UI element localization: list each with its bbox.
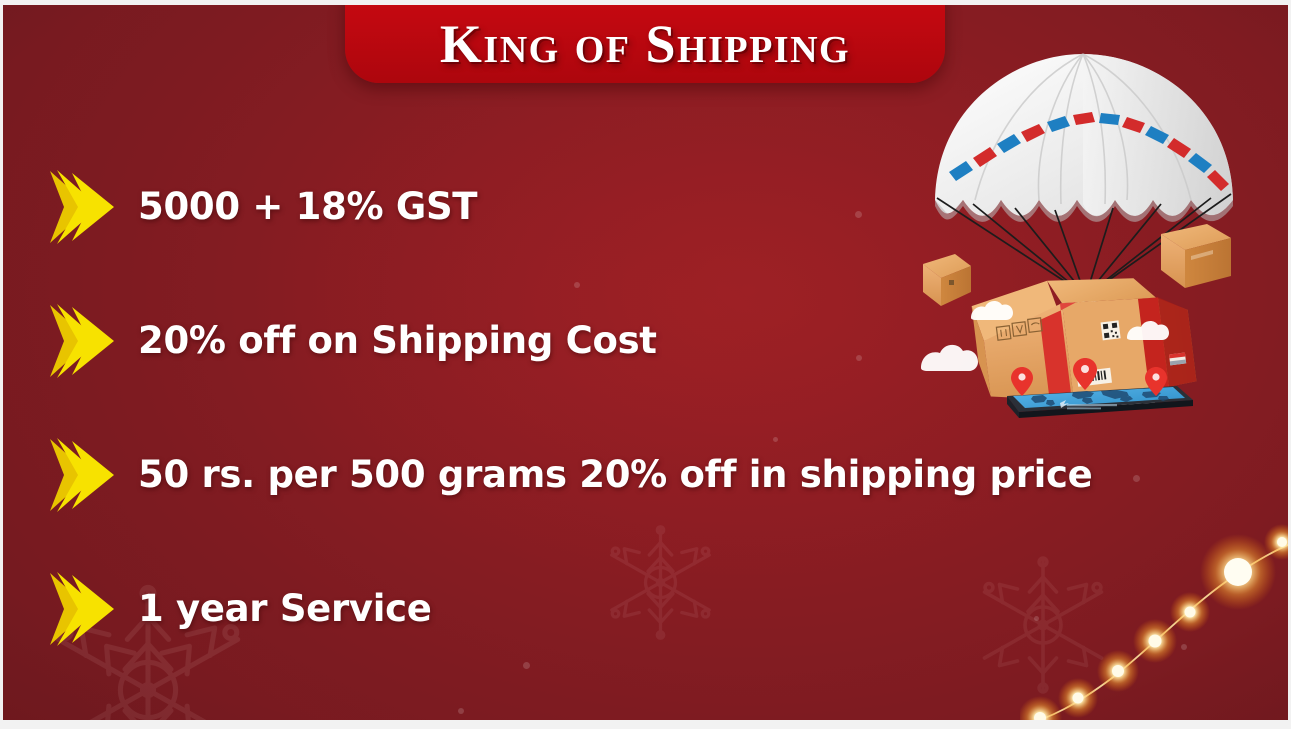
list-item: 20% off on Shipping Cost bbox=[44, 274, 1224, 408]
list-item: 5000 + 18% GST bbox=[44, 140, 1224, 274]
double-chevron-arrow-icon bbox=[44, 569, 122, 649]
feature-text: 5000 + 18% GST bbox=[138, 188, 477, 227]
feature-list: 5000 + 18% GST 20% off on Shipping Cost bbox=[44, 140, 1224, 676]
list-item: 1 year Service bbox=[44, 542, 1224, 676]
double-chevron-arrow-icon bbox=[44, 301, 122, 381]
frame-edge-bottom bbox=[0, 720, 1291, 729]
title-ribbon: King of Shipping bbox=[345, 0, 945, 83]
promo-banner: King of Shipping 5000 + 18% GST bbox=[0, 0, 1291, 729]
page-title: King of Shipping bbox=[440, 17, 850, 83]
bokeh-speck-icon bbox=[458, 708, 464, 714]
feature-text: 1 year Service bbox=[138, 590, 432, 629]
double-chevron-arrow-icon bbox=[44, 167, 122, 247]
list-item: 50 rs. per 500 grams 20% off in shipping… bbox=[44, 408, 1224, 542]
double-chevron-arrow-icon bbox=[44, 435, 122, 515]
feature-text: 20% off on Shipping Cost bbox=[138, 322, 657, 361]
feature-text: 50 rs. per 500 grams 20% off in shipping… bbox=[138, 456, 1092, 495]
